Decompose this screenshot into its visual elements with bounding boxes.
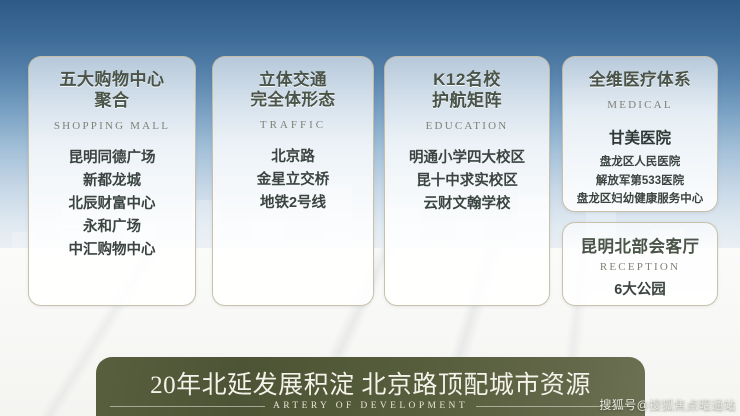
card-subtitle-medical: MEDICAL <box>569 99 711 111</box>
list-item: 明通小学四大校区 <box>391 147 543 170</box>
card-items-shopping: 昆明同德广场 新都龙城 北辰财富中心 永和广场 中汇购物中心 <box>35 147 189 262</box>
card-title-medical: 全维医疗体系 <box>569 70 711 90</box>
list-item: 盘龙区妇幼健康服务中心 <box>569 190 711 209</box>
feature-card-education: K12名校 护航矩阵 EDUCATION 明通小学四大校区 昆十中求实校区 云财… <box>384 56 550 306</box>
bottom-banner: 20年北延发展积淀 北京路顶配城市资源 ARTERY OF DEVELOPMEN… <box>96 357 645 416</box>
card-title-line1: 立体交通 <box>259 71 327 89</box>
card-items-education: 明通小学四大校区 昆十中求实校区 云财文翰学校 <box>391 147 543 216</box>
feature-card-traffic: 立体交通 完全体形态 TRAFFIC 北京路 金星立交桥 地铁2号线 <box>212 56 374 306</box>
card-subtitle-reception: RECEPTION <box>569 261 711 273</box>
list-item: 昆十中求实校区 <box>391 170 543 193</box>
card-title-shopping: 五大购物中心 聚合 <box>35 70 189 111</box>
card-title-line1: K12名校 <box>433 70 501 89</box>
card-title-line1: 五大购物中心 <box>60 70 165 89</box>
card-title-education: K12名校 护航矩阵 <box>391 70 543 111</box>
card-items-reception: 6大公园 <box>569 279 711 302</box>
list-item: 北辰财富中心 <box>35 193 189 216</box>
card-subtitle-education: EDUCATION <box>391 120 543 132</box>
list-item: 解放军第533医院 <box>569 172 711 191</box>
card-lead-medical: 甘美医院 <box>569 126 711 151</box>
list-item: 6大公园 <box>569 279 711 302</box>
list-item: 新都龙城 <box>35 170 189 193</box>
watermark: 搜狐号@搜狐焦点昭通站 <box>599 396 736 413</box>
banner-divider-left <box>110 406 265 407</box>
feature-card-shopping: 五大购物中心 聚合 SHOPPING MALL 昆明同德广场 新都龙城 北辰财富… <box>28 56 196 306</box>
banner-headline: 20年北延发展积淀 北京路顶配城市资源 <box>96 365 645 401</box>
list-item: 云财文翰学校 <box>391 193 543 216</box>
card-items-medical: 甘美医院 盘龙区人民医院 解放军第533医院 盘龙区妇幼健康服务中心 <box>569 126 711 209</box>
card-title-line2: 聚合 <box>95 91 130 110</box>
list-item: 中汇购物中心 <box>35 239 189 262</box>
list-item: 地铁2号线 <box>219 192 367 215</box>
card-subtitle-traffic: TRAFFIC <box>219 119 367 131</box>
card-subtitle-shopping: SHOPPING MALL <box>35 120 189 132</box>
feature-card-grid: 五大购物中心 聚合 SHOPPING MALL 昆明同德广场 新都龙城 北辰财富… <box>28 56 718 306</box>
card-title-traffic: 立体交通 完全体形态 <box>219 70 367 110</box>
list-item: 北京路 <box>219 146 367 169</box>
card-title-reception: 昆明北部会客厅 <box>569 237 711 257</box>
banner-subline: ARTERY OF DEVELOPMENT <box>273 401 468 411</box>
list-item: 昆明同德广场 <box>35 147 189 170</box>
card-title-line2: 完全体形态 <box>251 91 336 109</box>
card-items-traffic: 北京路 金星立交桥 地铁2号线 <box>219 146 367 215</box>
card-title-line2: 护航矩阵 <box>432 91 502 110</box>
card-title-line1: 全维医疗体系 <box>589 71 691 89</box>
banner-subline-group: ARTERY OF DEVELOPMENT <box>110 401 631 411</box>
feature-card-reception: 昆明北部会客厅 RECEPTION 6大公园 <box>562 222 718 306</box>
poster-stage: 五大购物中心 聚合 SHOPPING MALL 昆明同德广场 新都龙城 北辰财富… <box>0 0 740 416</box>
card-title-line1: 昆明北部会客厅 <box>581 238 700 256</box>
feature-card-medical: 全维医疗体系 MEDICAL 甘美医院 盘龙区人民医院 解放军第533医院 盘龙… <box>562 56 718 212</box>
list-item: 金星立交桥 <box>219 169 367 192</box>
list-item: 盘龙区人民医院 <box>569 153 711 172</box>
list-item: 永和广场 <box>35 216 189 239</box>
